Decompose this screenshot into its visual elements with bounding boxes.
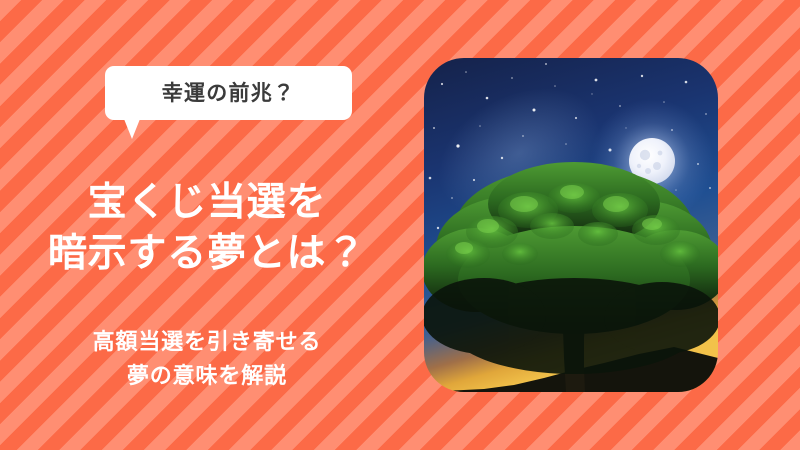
thumbnail-canvas: 幸運の前兆？ 宝くじ当選を 暗示する夢とは？ 高額当選を引き寄せる 夢の意味を解… — [0, 0, 800, 450]
page-subtitle-line-1: 高額当選を引き寄せる — [0, 325, 414, 359]
speech-bubble-tail-icon — [124, 119, 140, 139]
page-title-line-2: 暗示する夢とは？ — [0, 229, 414, 280]
night-sky-illustration — [424, 58, 718, 392]
badge-label: 幸運の前兆？ — [162, 83, 296, 104]
hero-photo-card — [424, 58, 718, 392]
badge-speech-bubble: 幸運の前兆？ — [105, 66, 352, 120]
page-title-line-1: 宝くじ当選を — [0, 178, 414, 229]
page-subtitle-line-2: 夢の意味を解説 — [0, 359, 414, 393]
page-title: 宝くじ当選を 暗示する夢とは？ — [0, 178, 414, 279]
text-column: 幸運の前兆？ 宝くじ当選を 暗示する夢とは？ 高額当選を引き寄せる 夢の意味を解… — [0, 0, 414, 450]
page-subtitle: 高額当選を引き寄せる 夢の意味を解説 — [0, 325, 414, 393]
